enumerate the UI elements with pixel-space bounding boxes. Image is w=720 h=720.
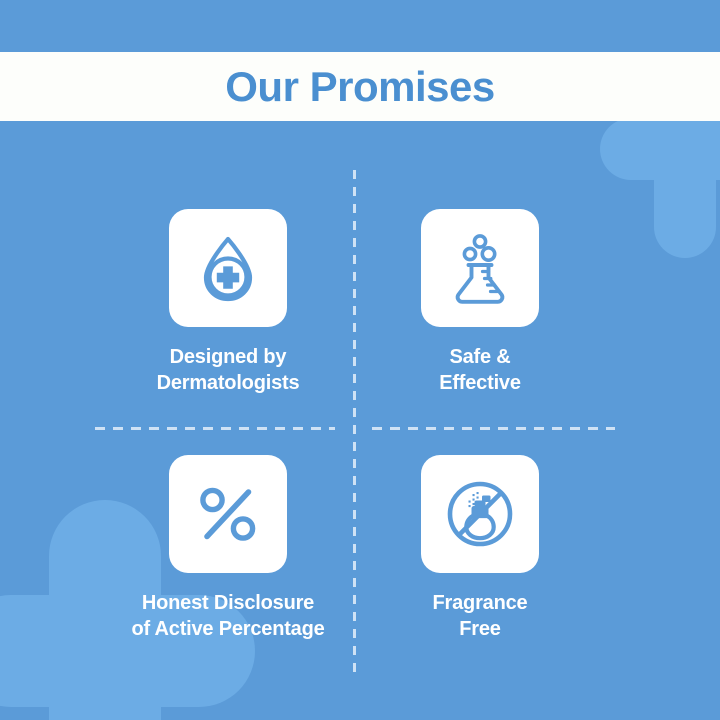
icon-card (169, 455, 287, 573)
icon-card (421, 209, 539, 327)
droplet-plus-icon (190, 230, 266, 306)
icon-card (169, 209, 287, 327)
lab-flask-icon (442, 230, 518, 306)
promise-label: Designed by Dermatologists (157, 345, 300, 396)
promise-label: Fragrance Free (433, 591, 528, 642)
promise-grid: Designed by Dermatologists (0, 121, 720, 720)
no-fragrance-spray-icon (442, 476, 518, 552)
promises-infographic: Our Promises Designed by Dermatologists (0, 0, 720, 720)
percent-icon (190, 476, 266, 552)
header-banner: Our Promises (0, 52, 720, 121)
promise-label: Honest Disclosure of Active Percentage (131, 591, 324, 642)
promise-label: Safe & Effective (439, 345, 521, 396)
promise-item-safe-and-effective: Safe & Effective (315, 209, 645, 396)
promise-item-fragrance-free: Fragrance Free (315, 455, 645, 642)
page-title: Our Promises (225, 66, 494, 108)
icon-card (421, 455, 539, 573)
